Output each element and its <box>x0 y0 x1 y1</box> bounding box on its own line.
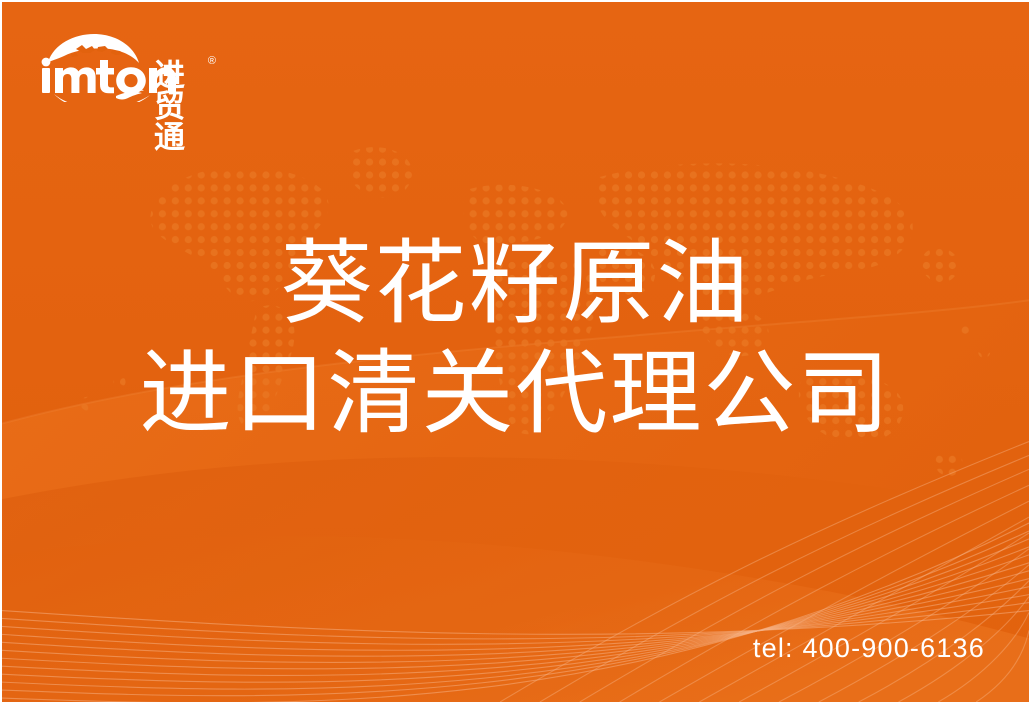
promo-banner: 进贸通 ® 葵花籽原油 进口清关代理公司 tel: 400-900-6136 <box>0 0 1031 704</box>
logo-chinese-text: 进贸通 <box>154 60 206 153</box>
brand-logo[interactable]: 进贸通 ® <box>38 30 216 102</box>
contact-phone[interactable]: tel: 400-900-6136 <box>753 633 985 664</box>
headline-line-1: 葵花籽原油 <box>2 238 1029 330</box>
registered-trademark-icon: ® <box>208 56 216 67</box>
page-title: 葵花籽原油 进口清关代理公司 <box>2 238 1029 440</box>
headline-line-2: 进口清关代理公司 <box>2 348 1029 440</box>
